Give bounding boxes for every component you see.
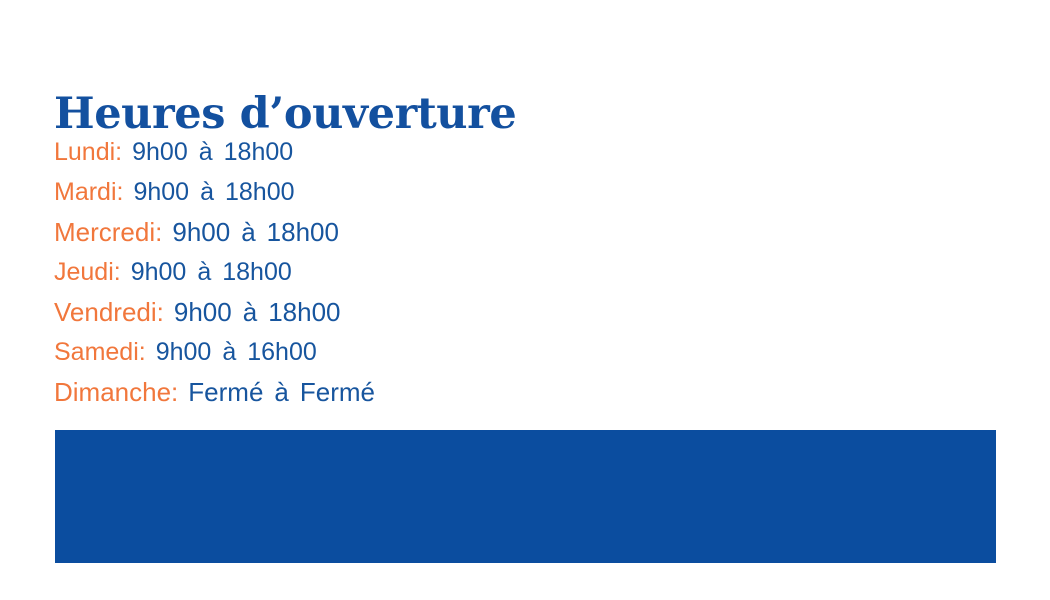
close-time: 18h00 — [225, 172, 295, 212]
bottom-blue-banner — [55, 430, 996, 563]
day-label: Lundi: — [54, 132, 122, 172]
day-label: Mercredi: — [54, 212, 162, 252]
close-time: 18h00 — [268, 292, 340, 332]
open-time: Fermé — [188, 372, 263, 412]
open-time: 9h00 — [172, 212, 230, 252]
open-time: 9h00 — [132, 132, 188, 172]
close-time: Fermé — [300, 372, 375, 412]
day-label: Mardi: — [54, 172, 123, 212]
page-canvas: Heures d’ouverture Lundi: 9h00 à 18h00 M… — [0, 0, 1050, 600]
time-separator: à — [200, 172, 214, 212]
hours-row: Dimanche: Fermé à Fermé — [54, 372, 754, 412]
open-time: 9h00 — [133, 172, 189, 212]
time-separator: à — [274, 372, 288, 412]
open-time: 9h00 — [156, 332, 212, 372]
hours-row: Mardi: 9h00 à 18h00 — [54, 172, 754, 212]
day-label: Dimanche: — [54, 372, 178, 412]
hours-row: Lundi: 9h00 à 18h00 — [54, 132, 754, 172]
close-time: 18h00 — [222, 252, 292, 292]
hours-row: Vendredi: 9h00 à 18h00 — [54, 292, 754, 332]
day-label: Jeudi: — [54, 252, 121, 292]
day-label: Vendredi: — [54, 292, 164, 332]
hours-row: Jeudi: 9h00 à 18h00 — [54, 252, 754, 292]
time-separator: à — [222, 332, 236, 372]
time-separator: à — [243, 292, 257, 332]
open-time: 9h00 — [131, 252, 187, 292]
time-separator: à — [241, 212, 255, 252]
opening-hours-list: Lundi: 9h00 à 18h00 Mardi: 9h00 à 18h00 … — [54, 132, 754, 412]
close-time: 16h00 — [247, 332, 317, 372]
hours-row: Samedi: 9h00 à 16h00 — [54, 332, 754, 372]
close-time: 18h00 — [224, 132, 294, 172]
close-time: 18h00 — [267, 212, 339, 252]
open-time: 9h00 — [174, 292, 232, 332]
time-separator: à — [197, 252, 211, 292]
day-label: Samedi: — [54, 332, 146, 372]
hours-row: Mercredi: 9h00 à 18h00 — [54, 212, 754, 252]
time-separator: à — [199, 132, 213, 172]
